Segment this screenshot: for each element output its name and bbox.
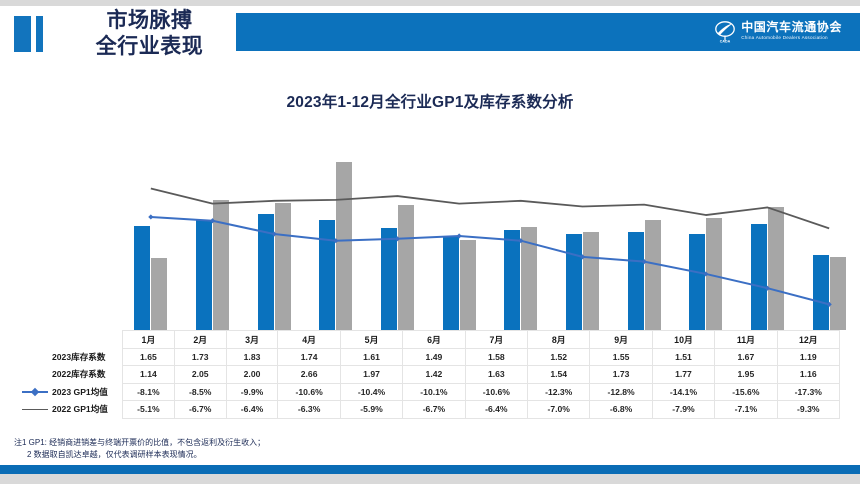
table-cell: -6.8% [590, 401, 652, 419]
header-accent-bar-thin [36, 16, 43, 52]
header-title-line1: 市场脉搏 [62, 8, 237, 34]
table-row: 2022库存系数1.142.052.002.661.971.421.631.54… [20, 366, 840, 384]
table-cell: 1.42 [403, 366, 465, 384]
table-cell: 1.74 [278, 348, 340, 366]
slide-root: 市场脉搏 全行业表现 CADA 中国汽车流通协会 China Automobil… [0, 0, 860, 484]
table-cell: 2.00 [226, 366, 278, 384]
table-row-label: 2022库存系数 [20, 366, 123, 384]
table-col-header: 3月 [226, 331, 278, 349]
table-cell: -6.4% [226, 401, 278, 419]
table-col-header: 6月 [403, 331, 465, 349]
table-row-label-text: 2022库存系数 [52, 368, 106, 380]
legend-swatch-blue-bar-icon [22, 352, 48, 362]
table-cell: -5.9% [340, 401, 402, 419]
header-accent-bar-wide [14, 16, 31, 52]
table-cell: 1.16 [777, 366, 839, 384]
table-col-header: 9月 [590, 331, 652, 349]
line-2023-marker [333, 238, 338, 243]
table-cell: 1.55 [590, 348, 652, 366]
chart-title: 2023年1-12月全行业GP1及库存系数分析 [0, 90, 860, 112]
chart-plot-area [120, 140, 860, 330]
line-2023-marker [210, 218, 215, 223]
data-table: 1月2月3月4月5月6月7月8月9月10月11月12月 2023库存系数1.65… [20, 330, 840, 419]
line-2023-marker [457, 233, 462, 238]
table-row-label-text: 2022 GP1均值 [52, 403, 108, 415]
line-2023-gp1 [151, 217, 829, 304]
line-2023-marker [518, 238, 523, 243]
table-row-label-text: 2023库存系数 [52, 351, 106, 363]
table-col-header: 8月 [528, 331, 590, 349]
footnote-line-1: 注1 GP1: 经销商进销差与终端开票价的比值，不包含返利及衍生收入； [14, 437, 265, 449]
footnote: 注1 GP1: 经销商进销差与终端开票价的比值，不包含返利及衍生收入； 2 数据… [14, 437, 265, 460]
table-cell: -8.1% [123, 383, 175, 401]
table-col-header: 11月 [715, 331, 777, 349]
table-cell: 1.52 [528, 348, 590, 366]
table-cell: 2.05 [174, 366, 226, 384]
table-cell: -8.5% [174, 383, 226, 401]
table-corner-cell [20, 331, 123, 349]
line-2023-marker [703, 271, 708, 276]
cada-swirl-logo-icon: CADA [714, 19, 736, 43]
table-cell: -12.8% [590, 383, 652, 401]
svg-text:CADA: CADA [720, 40, 731, 43]
header-title-line2: 全行业表现 [62, 34, 237, 60]
table-col-header: 10月 [652, 331, 714, 349]
table-cell: -7.0% [528, 401, 590, 419]
line-2023-marker [580, 254, 585, 259]
table-cell: -14.1% [652, 383, 714, 401]
table-col-header: 7月 [465, 331, 527, 349]
bottom-blue-strip [0, 465, 860, 474]
cada-logo: CADA 中国汽车流通协会 China Automobile Dealers A… [714, 19, 842, 43]
top-edge-strip [0, 0, 860, 6]
table-row-label: 2023 GP1均值 [20, 383, 123, 401]
table-header-row: 1月2月3月4月5月6月7月8月9月10月11月12月 [20, 331, 840, 349]
table-cell: -6.7% [403, 401, 465, 419]
line-2023-marker [148, 214, 153, 219]
table-cell: 1.19 [777, 348, 839, 366]
table-row: 2023 GP1均值-8.1%-8.5%-9.9%-10.6%-10.4%-10… [20, 383, 840, 401]
legend-swatch-gray-line-icon [22, 404, 48, 414]
logo-name-cn: 中国汽车流通协会 [741, 21, 842, 33]
table-row-label: 2023库存系数 [20, 348, 123, 366]
table-cell: 1.51 [652, 348, 714, 366]
table-cell: -9.9% [226, 383, 278, 401]
logo-name-en: China Automobile Dealers Association [741, 36, 842, 41]
table-row: 2023库存系数1.651.731.831.741.611.491.581.52… [20, 348, 840, 366]
table-cell: -15.6% [715, 383, 777, 401]
table-cell: -7.9% [652, 401, 714, 419]
table-cell: 1.65 [123, 348, 175, 366]
table-cell: -6.4% [465, 401, 527, 419]
lines-layer [120, 140, 860, 330]
table-cell: 1.54 [528, 366, 590, 384]
table-cell: -5.1% [123, 401, 175, 419]
table-cell: -6.3% [278, 401, 340, 419]
table-cell: 1.67 [715, 348, 777, 366]
table-cell: -12.3% [528, 383, 590, 401]
table-cell: -10.4% [340, 383, 402, 401]
footnote-line-2: 2 数据取自凯达卓越，仅代表调研样本表现情况。 [14, 449, 265, 461]
table-cell: -17.3% [777, 383, 839, 401]
table-cell: 1.77 [652, 366, 714, 384]
table-cell: -6.7% [174, 401, 226, 419]
table-cell: 1.14 [123, 366, 175, 384]
table-cell: 1.73 [174, 348, 226, 366]
legend-swatch-blue-line-icon [22, 387, 48, 397]
bottom-edge-strip [0, 474, 860, 484]
table-cell: -10.1% [403, 383, 465, 401]
line-2023-marker [395, 236, 400, 241]
table-col-header: 2月 [174, 331, 226, 349]
table-body: 2023库存系数1.651.731.831.741.611.491.581.52… [20, 348, 840, 418]
table-cell: 1.58 [465, 348, 527, 366]
table-cell: -9.3% [777, 401, 839, 419]
table-cell: 1.95 [715, 366, 777, 384]
line-2022-gp1 [151, 188, 829, 228]
table-cell: 1.63 [465, 366, 527, 384]
table-col-header: 5月 [340, 331, 402, 349]
table-cell: -7.1% [715, 401, 777, 419]
line-2023-marker [765, 286, 770, 291]
table-cell: 1.97 [340, 366, 402, 384]
table-cell: 1.49 [403, 348, 465, 366]
header-title: 市场脉搏 全行业表现 [62, 8, 237, 60]
line-2023-marker [827, 302, 832, 307]
table-row: 2022 GP1均值-5.1%-6.7%-6.4%-6.3%-5.9%-6.7%… [20, 401, 840, 419]
table-cell: -10.6% [278, 383, 340, 401]
table-row-label: 2022 GP1均值 [20, 401, 123, 419]
line-2023-marker [272, 231, 277, 236]
table-col-header: 12月 [777, 331, 839, 349]
line-2023-marker [642, 259, 647, 264]
table-cell: 2.66 [278, 366, 340, 384]
table-row-label-text: 2023 GP1均值 [52, 386, 108, 398]
table-cell: 1.73 [590, 366, 652, 384]
table-cell: 1.83 [226, 348, 278, 366]
table-cell: -10.6% [465, 383, 527, 401]
table-col-header: 4月 [278, 331, 340, 349]
legend-swatch-gray-bar-icon [22, 369, 48, 379]
table-cell: 1.61 [340, 348, 402, 366]
table-col-header: 1月 [123, 331, 175, 349]
